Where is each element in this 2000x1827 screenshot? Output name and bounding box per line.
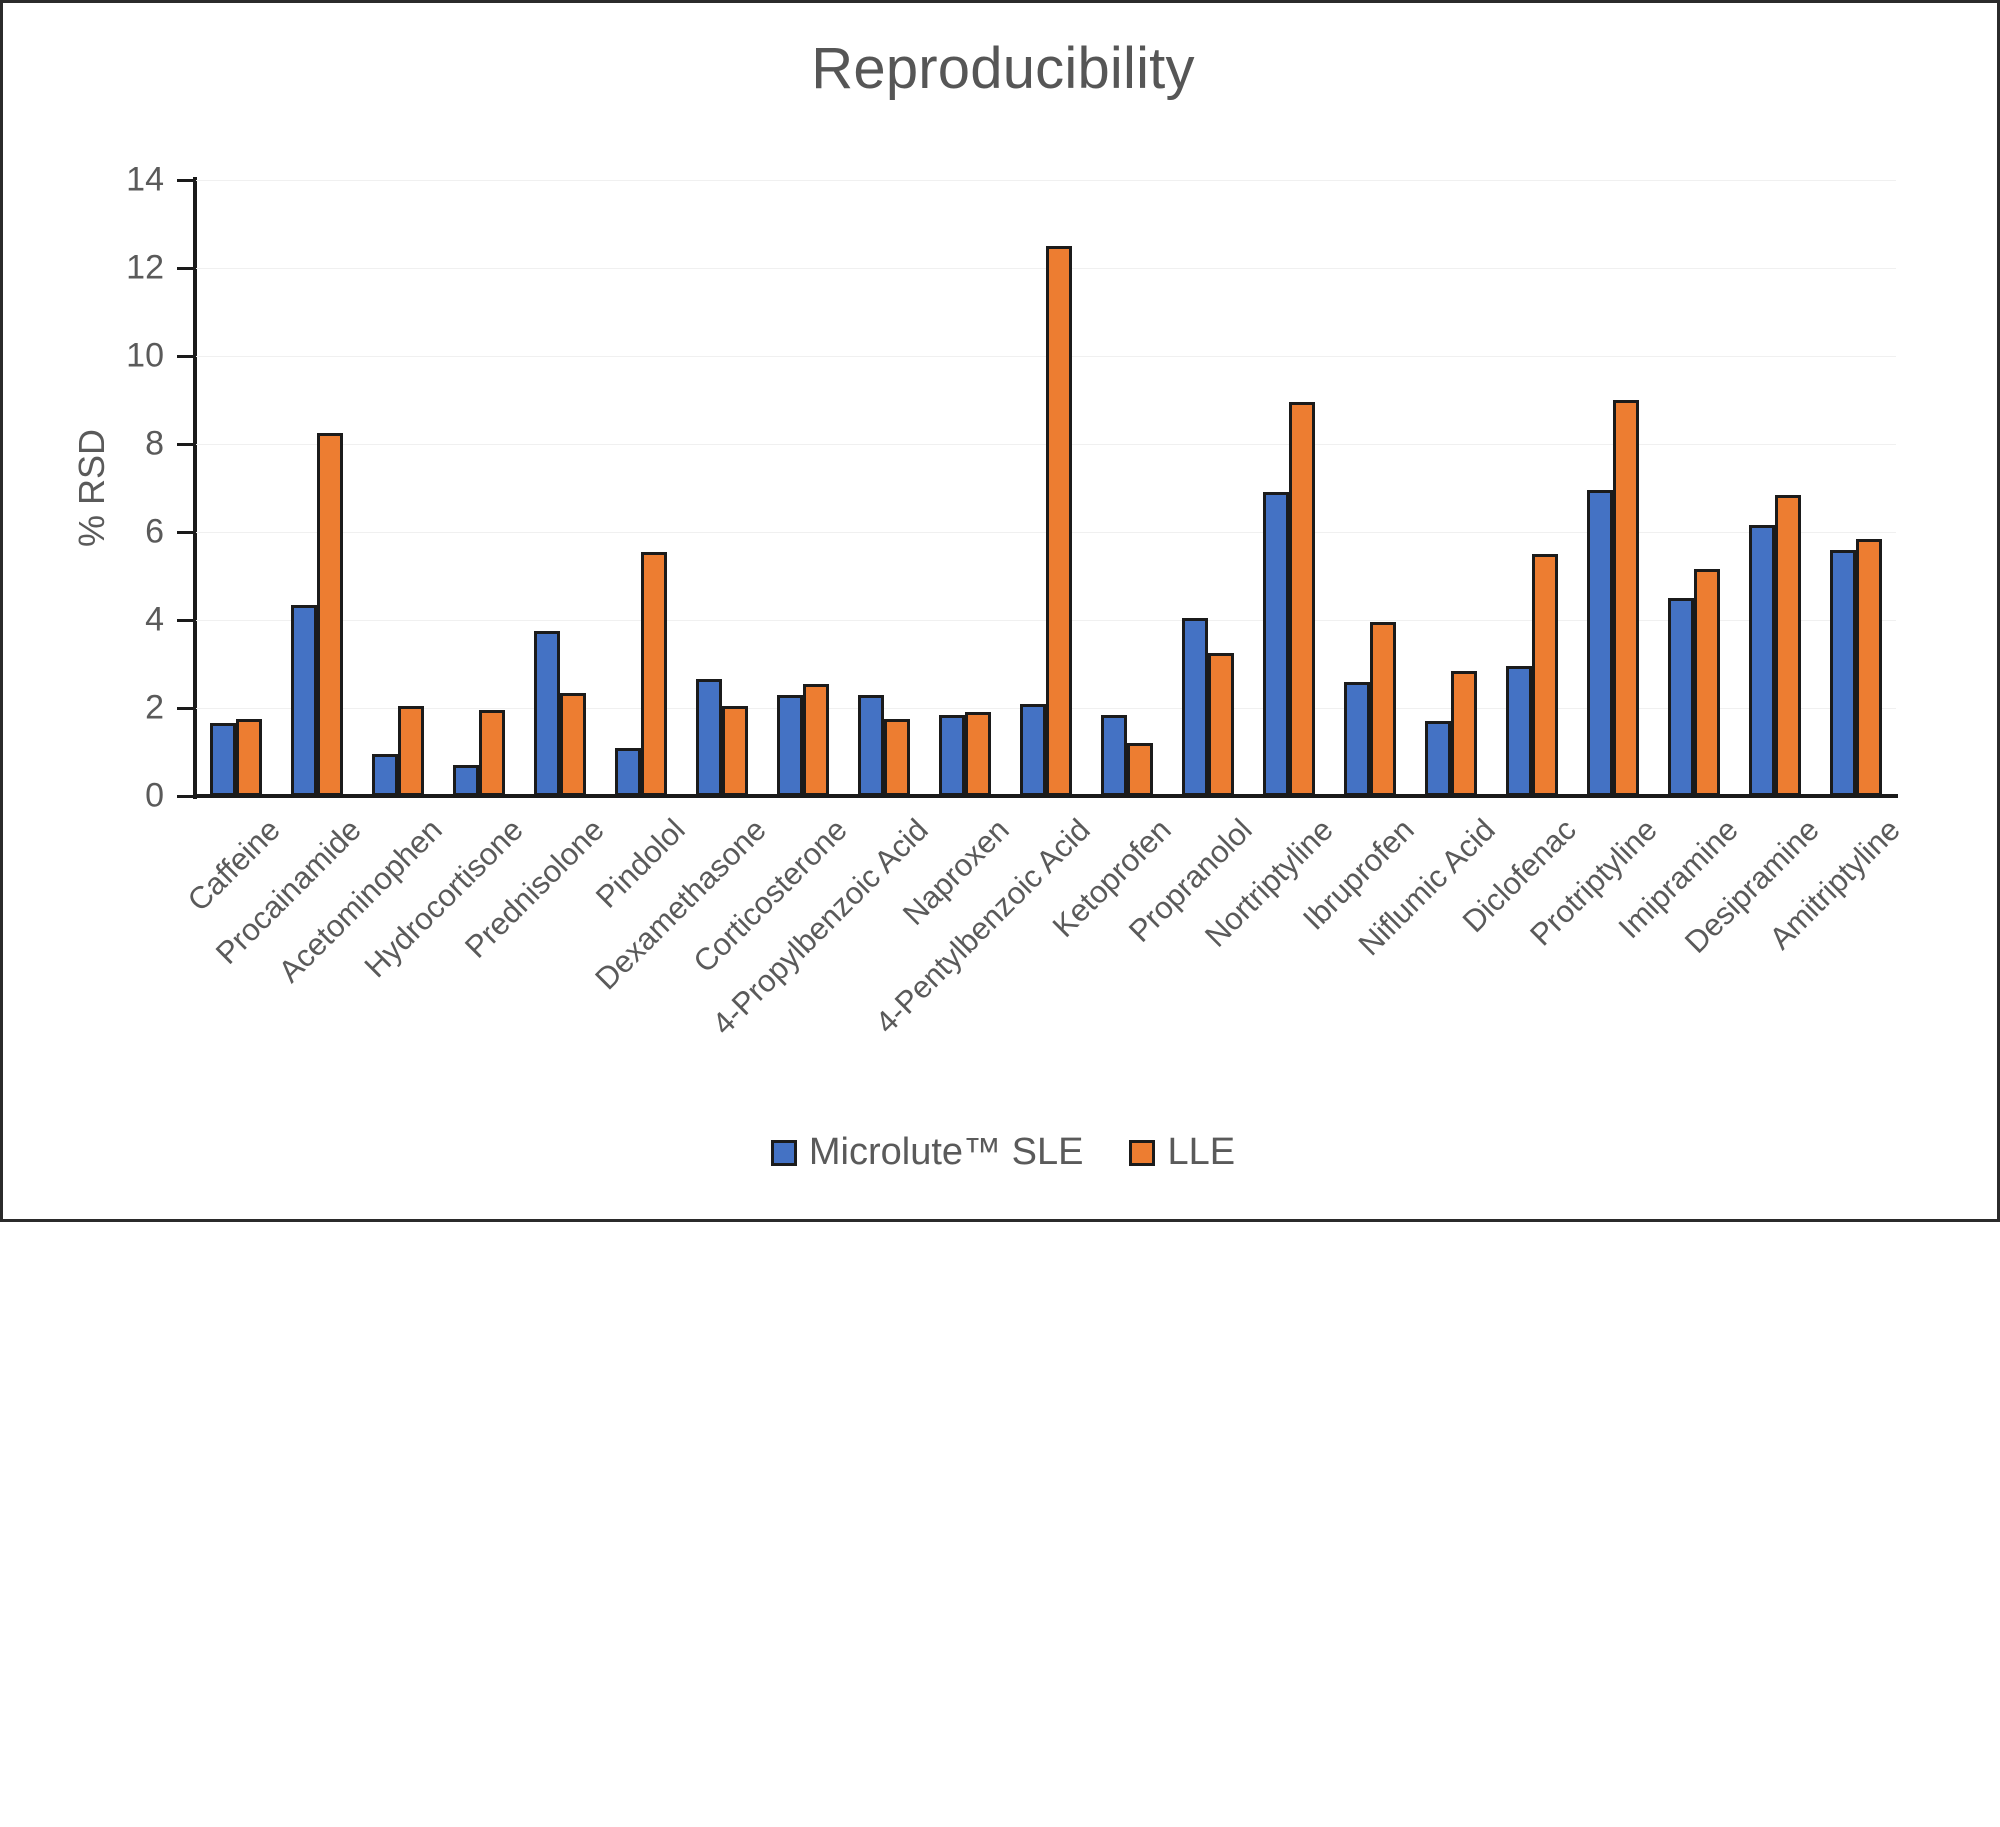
legend-label: LLE [1167, 1131, 1235, 1174]
y-axis-tick [177, 443, 196, 446]
y-axis-tick-label: 12 [44, 249, 164, 288]
chart-title: Reproducibility [3, 35, 2000, 102]
bar-group [1815, 180, 1896, 796]
bar[interactable] [615, 748, 641, 796]
bar[interactable] [453, 765, 479, 796]
bar[interactable] [398, 706, 424, 796]
bar[interactable] [1451, 671, 1477, 796]
bar[interactable] [1370, 622, 1396, 796]
bar-group [1734, 180, 1815, 796]
legend-item-lle[interactable]: LLE [1129, 1131, 1235, 1174]
bar[interactable] [1344, 682, 1370, 796]
bar-group [763, 180, 844, 796]
bar-group [1167, 180, 1248, 796]
y-axis-tick-label: 14 [44, 161, 164, 200]
bar[interactable] [1749, 525, 1775, 796]
bar-group [1491, 180, 1572, 796]
bar-group [1006, 180, 1087, 796]
bar[interactable] [1020, 704, 1046, 796]
bar-group [601, 180, 682, 796]
legend-swatch-icon [1129, 1140, 1155, 1166]
legend-item-microlute-sle[interactable]: Microlute™ SLE [771, 1131, 1084, 1174]
bar-group [1329, 180, 1410, 796]
bar[interactable] [1830, 550, 1856, 796]
bar[interactable] [1263, 492, 1289, 796]
bar-group [520, 180, 601, 796]
y-axis-tick-label: 4 [44, 601, 164, 640]
bar[interactable] [641, 552, 667, 796]
bar[interactable] [1587, 490, 1613, 796]
bar-group [1086, 180, 1167, 796]
bar-group [1248, 180, 1329, 796]
bar-group [925, 180, 1006, 796]
bar[interactable] [1775, 495, 1801, 796]
bar-group [277, 180, 358, 796]
bar-group [1653, 180, 1734, 796]
bar[interactable] [479, 710, 505, 796]
y-axis-tick-label: 2 [44, 689, 164, 728]
bar[interactable] [1532, 554, 1558, 796]
bar[interactable] [1506, 666, 1532, 796]
bar[interactable] [1425, 721, 1451, 796]
y-axis-tick [177, 707, 196, 710]
bar[interactable] [884, 719, 910, 796]
y-axis-tick [177, 355, 196, 358]
bar-group [844, 180, 925, 796]
bar[interactable] [722, 706, 748, 796]
bar[interactable] [1127, 743, 1153, 796]
bar[interactable] [236, 719, 262, 796]
bar[interactable] [1101, 715, 1127, 796]
legend-swatch-icon [771, 1140, 797, 1166]
y-axis-tick [177, 267, 196, 270]
bar[interactable] [1856, 539, 1882, 796]
y-axis-tick-label: 10 [44, 337, 164, 376]
y-axis-tick [177, 795, 196, 798]
y-axis-tick-label: 6 [44, 513, 164, 552]
bar-group [1410, 180, 1491, 796]
bar[interactable] [1694, 569, 1720, 796]
bar-group [358, 180, 439, 796]
bar[interactable] [1668, 598, 1694, 796]
legend-label: Microlute™ SLE [809, 1131, 1084, 1174]
bar-group [439, 180, 520, 796]
bar[interactable] [291, 605, 317, 796]
bar[interactable] [317, 433, 343, 796]
chart-frame: Reproducibility % RSD 02468101214 Caffei… [0, 0, 2000, 1222]
bar[interactable] [1208, 653, 1234, 796]
bar-group [196, 180, 277, 796]
bar[interactable] [1613, 400, 1639, 796]
bar[interactable] [534, 631, 560, 796]
bar[interactable] [560, 693, 586, 796]
bar[interactable] [696, 679, 722, 796]
plot-area: % RSD 02468101214 [196, 180, 1896, 796]
bar[interactable] [1046, 246, 1072, 796]
y-axis-tick [177, 531, 196, 534]
bar[interactable] [372, 754, 398, 796]
bar-group [682, 180, 763, 796]
y-axis-tick [177, 619, 196, 622]
bar[interactable] [858, 695, 884, 796]
bar[interactable] [1182, 618, 1208, 796]
bar[interactable] [965, 712, 991, 796]
chart-legend: Microlute™ SLE LLE [3, 1131, 2000, 1174]
y-axis-tick-label: 8 [44, 425, 164, 464]
bar[interactable] [210, 723, 236, 796]
bar-group [1572, 180, 1653, 796]
bar[interactable] [939, 715, 965, 796]
bar[interactable] [1289, 402, 1315, 796]
y-axis-tick [177, 179, 196, 182]
y-axis-tick-label: 0 [44, 777, 164, 816]
x-axis-labels: CaffeineProcainamideAcetominophenHydroco… [196, 798, 1896, 1038]
bar[interactable] [777, 695, 803, 796]
bar[interactable] [803, 684, 829, 796]
